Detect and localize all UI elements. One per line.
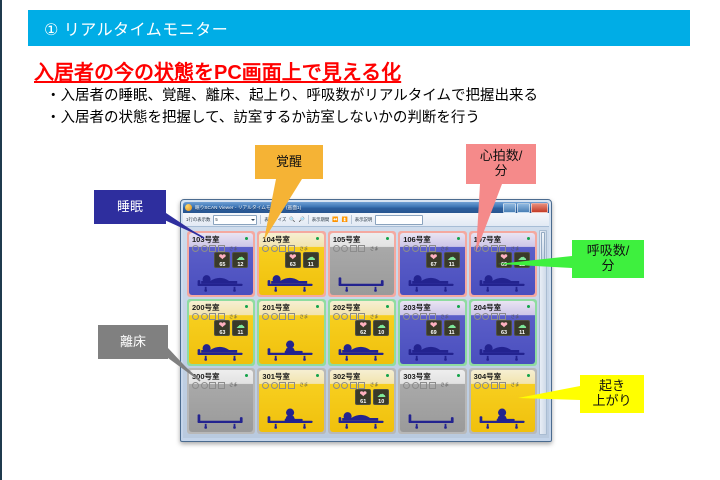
callout-sitting-up-label: 起き上がり [592, 379, 631, 409]
room-number: 203号室 [403, 303, 461, 312]
room-tile-body: ❤63☁11 [474, 320, 532, 361]
bed-posture-icon [335, 270, 389, 292]
vital-signs: ❤62☁10 [355, 320, 389, 336]
callout-awake: 覚醒 [255, 145, 323, 179]
room-number: 201号室 [262, 303, 320, 312]
bed-posture-icon [194, 407, 248, 429]
name-mask-circle [482, 382, 489, 389]
name-mask-square [288, 382, 295, 389]
callout-respiration-rate: 呼吸数/分 [572, 240, 644, 278]
honorific-suffix: さま [511, 246, 520, 252]
monitor-toolbar[interactable]: 1行の表示数 5 表示サイズ 🔍 🔎 表示期間 ⏪ ⏫ 表示説明 [183, 213, 549, 227]
name-mask-square [358, 245, 365, 252]
heart-rate-value: 63 [496, 330, 512, 336]
vital-signs: ❤63☁11 [496, 320, 530, 336]
room-tile-body [192, 389, 250, 430]
name-mask-square [429, 313, 436, 320]
room-tile-header: 201号室さま [262, 303, 320, 320]
name-mask-square [420, 382, 427, 389]
name-mask-square [218, 313, 225, 320]
chevron-down-icon [251, 219, 255, 221]
room-tile-body [333, 252, 391, 293]
respiration-rate-badge: ☁10 [373, 320, 389, 336]
vital-signs: ❤67☁11 [426, 252, 460, 268]
name-mask-square [350, 313, 357, 320]
display-size-label: 表示サイズ [264, 217, 286, 223]
room-number: 202号室 [333, 303, 391, 312]
room-number: 104号室 [262, 235, 320, 244]
online-status-indicator [457, 237, 460, 240]
room-tile-header: 103号室さま [192, 235, 250, 252]
honorific-suffix: さま [299, 246, 308, 252]
rows-per-line-select[interactable]: 5 [213, 215, 257, 225]
callout-awake-label: 覚醒 [276, 155, 302, 170]
lungs-icon: ☁ [373, 321, 389, 330]
resident-name-placeholder: さま [262, 245, 320, 252]
callout-sitting-up: 起き上がり [580, 375, 644, 413]
online-status-indicator [386, 374, 389, 377]
bed-posture-icon [194, 270, 248, 292]
bullet-item: ・入居者の睡眠、覚醒、離床、起上り、呼吸数がリアルタイムで把握出来る [46, 86, 538, 108]
respiration-rate-badge: ☁11 [444, 252, 460, 268]
step-back-icon[interactable]: ⏪ [332, 217, 338, 223]
respiration-rate-badge: ☁10 [373, 389, 389, 405]
section-banner: ① リアルタイムモニター [28, 10, 690, 46]
step-forward-icon[interactable]: ⏫ [342, 217, 348, 223]
name-mask-circle [474, 313, 481, 320]
lungs-icon: ☁ [444, 253, 460, 262]
resident-name-placeholder: さま [333, 245, 391, 252]
room-tile-header: 202号室さま [333, 303, 391, 320]
respiration-rate-value: 11 [444, 262, 460, 268]
rows-per-line-label: 1行の表示数 [186, 217, 210, 223]
respiration-rate-badge: ☁11 [303, 252, 319, 268]
room-tile-inner: 300号室さま [189, 370, 253, 432]
heart-rate-badge: ❤63 [285, 252, 301, 268]
legend-field[interactable] [375, 215, 423, 225]
bed-posture-icon [335, 407, 389, 429]
room-tile-body: ❤63☁11 [262, 252, 320, 293]
legend-label: 表示説明 [355, 217, 373, 223]
heart-rate-value: 63 [285, 262, 301, 268]
respiration-rate-badge: ☁11 [232, 320, 248, 336]
vital-signs: ❤63☁11 [214, 320, 248, 336]
name-mask-circle [333, 245, 340, 252]
room-number: 105号室 [333, 235, 391, 244]
name-mask-circle [201, 313, 208, 320]
name-mask-circle [474, 382, 481, 389]
room-tile-body [262, 389, 320, 430]
room-tile[interactable]: 303号室さま [398, 368, 466, 434]
respiration-rate-badge: ☁11 [444, 320, 460, 336]
name-mask-circle [412, 313, 419, 320]
lungs-icon: ☁ [514, 253, 530, 262]
tile-row: 300号室さま301号室さま302号室さま❤61☁10303号室さま304号室さ… [186, 367, 546, 435]
honorific-suffix: さま [229, 382, 238, 388]
name-mask-circle [271, 382, 278, 389]
room-tile-header: 302号室さま [333, 372, 391, 389]
room-tile-body: ❤67☁11 [403, 252, 461, 293]
lungs-icon: ☁ [444, 321, 460, 330]
name-mask-square [499, 313, 506, 320]
resident-name-placeholder: さま [403, 313, 461, 320]
callout-heart-rate-label: 心拍数/分 [480, 149, 523, 179]
resident-name-placeholder: さま [474, 382, 532, 389]
online-status-indicator [457, 374, 460, 377]
room-tile-inner: 202号室さま❤62☁10 [330, 301, 394, 363]
bed-posture-icon [476, 339, 530, 361]
respiration-rate-value: 10 [373, 399, 389, 405]
bed-posture-icon [264, 407, 318, 429]
bed-posture-icon [335, 339, 389, 361]
honorific-suffix: さま [370, 382, 379, 388]
room-tile-inner: 106号室さま❤67☁11 [400, 233, 464, 295]
name-mask-square [209, 245, 216, 252]
room-tile-inner: 303号室さま [400, 370, 464, 432]
respiration-rate-badge: ☁12 [232, 252, 248, 268]
room-tile-body: ❤69☁12 [474, 252, 532, 293]
heart-rate-value: 61 [355, 399, 371, 405]
room-tile-header: 200号室さま [192, 303, 250, 320]
rows-per-line-value: 5 [215, 217, 217, 222]
respiration-rate-value: 12 [514, 262, 530, 268]
room-tile-inner: 304号室さま [471, 370, 535, 432]
toolbar-divider [351, 215, 352, 224]
name-mask-circle [271, 313, 278, 320]
respiration-rate-badge: ☁12 [514, 252, 530, 268]
room-tile-header: 105号室さま [333, 235, 391, 252]
room-number: 200号室 [192, 303, 250, 312]
room-tile-body [262, 320, 320, 361]
name-mask-square [491, 382, 498, 389]
name-mask-square [209, 313, 216, 320]
heart-rate-value: 62 [355, 330, 371, 336]
room-tile-header: 104号室さま [262, 235, 320, 252]
honorific-suffix: さま [299, 314, 308, 320]
room-number: 107号室 [474, 235, 532, 244]
name-mask-circle [201, 245, 208, 252]
name-mask-square [279, 313, 286, 320]
room-tile-inner: 201号室さま [259, 301, 323, 363]
room-number: 300号室 [192, 372, 250, 381]
respiration-rate-value: 12 [232, 262, 248, 268]
name-mask-square [429, 382, 436, 389]
name-mask-circle [412, 382, 419, 389]
heart-rate-value: 69 [496, 262, 512, 268]
heart-rate-value: 63 [214, 330, 230, 336]
bed-posture-icon [264, 270, 318, 292]
honorific-suffix: さま [440, 314, 449, 320]
heart-rate-badge: ❤67 [426, 252, 442, 268]
respiration-rate-value: 11 [232, 330, 248, 336]
name-mask-square [288, 245, 295, 252]
room-tile-inner: 200号室さま❤63☁11 [189, 301, 253, 363]
callout-respiration-rate-label: 呼吸数/分 [587, 244, 630, 274]
name-mask-square [491, 245, 498, 252]
room-tile-body: ❤62☁10 [333, 320, 391, 361]
name-mask-square [350, 382, 357, 389]
vital-signs: ❤61☁10 [355, 389, 389, 405]
room-tile[interactable]: 202号室さま❤62☁10 [328, 299, 396, 365]
room-tile[interactable]: 304号室さま [469, 368, 537, 434]
room-tile-body [403, 389, 461, 430]
room-tile[interactable]: 203号室さま❤69☁11 [398, 299, 466, 365]
grid-scrollbar[interactable] [539, 230, 547, 435]
bed-posture-icon [264, 339, 318, 361]
name-mask-circle [192, 313, 199, 320]
minimize-button[interactable] [503, 203, 516, 213]
honorific-suffix: さま [370, 246, 379, 252]
name-mask-square [499, 245, 506, 252]
name-mask-circle [201, 382, 208, 389]
room-tile-header: 303号室さま [403, 372, 461, 389]
resident-name-placeholder: さま [192, 382, 250, 389]
name-mask-square [218, 382, 225, 389]
room-tile-body: ❤63☁11 [192, 320, 250, 361]
resident-name-placeholder: さま [333, 382, 391, 389]
heart-rate-badge: ❤65 [214, 252, 230, 268]
scrollbar-thumb[interactable] [541, 232, 545, 262]
name-mask-circle [262, 245, 269, 252]
app-icon [185, 204, 192, 211]
toolbar-divider [260, 215, 261, 224]
online-status-indicator [527, 374, 530, 377]
room-tile[interactable]: 104号室さま❤63☁11 [257, 231, 325, 297]
room-tile[interactable]: 200号室さま❤63☁11 [187, 299, 255, 365]
heart-rate-badge: ❤62 [355, 320, 371, 336]
room-tile-header: 106号室さま [403, 235, 461, 252]
name-mask-circle [262, 313, 269, 320]
room-tile-inner: 104号室さま❤63☁11 [259, 233, 323, 295]
room-tile-header: 301号室さま [262, 372, 320, 389]
room-tile-body: ❤69☁11 [403, 320, 461, 361]
vital-signs: ❤65☁12 [214, 252, 248, 268]
tile-row: 200号室さま❤63☁11201号室さま202号室さま❤62☁10203号室さま… [186, 298, 546, 366]
bed-posture-icon [476, 270, 530, 292]
heart-rate-badge: ❤61 [355, 389, 371, 405]
name-mask-circle [333, 313, 340, 320]
name-mask-circle [482, 245, 489, 252]
zoom-out-icon[interactable]: 🔎 [298, 217, 304, 223]
respiration-rate-value: 10 [373, 330, 389, 336]
lungs-icon: ☁ [373, 390, 389, 399]
vital-signs: ❤69☁12 [496, 252, 530, 268]
room-tile-header: 204号室さま [474, 303, 532, 320]
honorific-suffix: さま [511, 382, 520, 388]
heart-icon: ❤ [496, 321, 512, 330]
name-mask-circle [403, 245, 410, 252]
honorific-suffix: さま [370, 314, 379, 320]
heart-icon: ❤ [426, 253, 442, 262]
room-tile-inner: 203号室さま❤69☁11 [400, 301, 464, 363]
honorific-suffix: さま [229, 314, 238, 320]
tile-row: 103号室さま❤65☁12104号室さま❤63☁11105号室さま106号室さま… [186, 230, 546, 298]
callout-heart-rate: 心拍数/分 [466, 144, 536, 184]
room-tile-header: 203号室さま [403, 303, 461, 320]
name-mask-square [288, 313, 295, 320]
room-tile-body: ❤61☁10 [333, 389, 391, 430]
name-mask-square [420, 313, 427, 320]
lungs-icon: ☁ [514, 321, 530, 330]
window-title: 眠りSCAN Viewer - リアルタイムモニター (画面1) [195, 205, 301, 211]
window-titlebar[interactable]: 眠りSCAN Viewer - リアルタイムモニター (画面1) [183, 202, 549, 213]
name-mask-square [358, 313, 365, 320]
vital-signs: ❤69☁11 [426, 320, 460, 336]
room-tile[interactable]: 301号室さま [257, 368, 325, 434]
room-tile[interactable]: 300号室さま [187, 368, 255, 434]
online-status-indicator [316, 374, 319, 377]
honorific-suffix: さま [229, 246, 238, 252]
heart-rate-value: 69 [426, 330, 442, 336]
room-tile-inner: 301号室さま [259, 370, 323, 432]
resident-name-placeholder: さま [262, 382, 320, 389]
room-tile-header: 300号室さま [192, 372, 250, 389]
resident-name-placeholder: さま [474, 245, 532, 252]
name-mask-circle [341, 245, 348, 252]
lungs-icon: ☁ [232, 253, 248, 262]
name-mask-circle [192, 245, 199, 252]
bed-posture-icon [476, 407, 530, 429]
resident-name-placeholder: さま [403, 245, 461, 252]
resident-name-placeholder: さま [192, 245, 250, 252]
lungs-icon: ☁ [232, 321, 248, 330]
heart-rate-value: 67 [426, 262, 442, 268]
heart-icon: ❤ [214, 321, 230, 330]
room-tile[interactable]: 107号室さま❤69☁12 [469, 231, 537, 297]
name-mask-square [279, 382, 286, 389]
room-tile-header: 304号室さま [474, 372, 532, 389]
callout-out-of-bed-label: 離床 [120, 335, 146, 350]
callout-out-of-bed: 離床 [98, 325, 168, 359]
room-tile-inner: 107号室さま❤69☁12 [471, 233, 535, 295]
resident-name-placeholder: さま [333, 313, 391, 320]
bullet-item: ・入居者の状態を把握して、訪室するか訪室しないかの判断を行う [46, 108, 538, 130]
heart-icon: ❤ [214, 253, 230, 262]
name-mask-circle [192, 382, 199, 389]
callout-sleep: 睡眠 [94, 190, 166, 224]
name-mask-circle [412, 245, 419, 252]
respiration-rate-value: 11 [303, 262, 319, 268]
room-tile[interactable]: 106号室さま❤67☁11 [398, 231, 466, 297]
vital-signs: ❤63☁11 [285, 252, 319, 268]
lungs-icon: ☁ [303, 253, 319, 262]
name-mask-square [218, 245, 225, 252]
respiration-rate-value: 11 [444, 330, 460, 336]
name-mask-circle [403, 313, 410, 320]
room-tile[interactable]: 302号室さま❤61☁10 [328, 368, 396, 434]
name-mask-circle [482, 313, 489, 320]
name-mask-circle [271, 245, 278, 252]
room-number: 106号室 [403, 235, 461, 244]
room-tile-inner: 105号室さま [330, 233, 394, 295]
respiration-rate-badge: ☁11 [514, 320, 530, 336]
bed-posture-icon [405, 407, 459, 429]
toolbar-divider [308, 215, 309, 224]
resident-name-placeholder: さま [262, 313, 320, 320]
name-mask-circle [333, 382, 340, 389]
resident-name-placeholder: さま [403, 382, 461, 389]
name-mask-square [350, 245, 357, 252]
heart-icon: ❤ [496, 253, 512, 262]
name-mask-square [209, 382, 216, 389]
room-tile-body [474, 389, 532, 430]
online-status-indicator [316, 237, 319, 240]
room-tile[interactable]: 105号室さま [328, 231, 396, 297]
heart-rate-value: 65 [214, 262, 230, 268]
name-mask-square [358, 382, 365, 389]
name-mask-circle [262, 382, 269, 389]
name-mask-square [429, 245, 436, 252]
realtime-monitor-window[interactable]: 眠りSCAN Viewer - リアルタイムモニター (画面1) 1行の表示数 … [180, 199, 552, 442]
honorific-suffix: さま [440, 246, 449, 252]
resident-name-placeholder: さま [192, 313, 250, 320]
heart-rate-badge: ❤69 [426, 320, 442, 336]
respiration-rate-value: 11 [514, 330, 530, 336]
heart-icon: ❤ [355, 321, 371, 330]
room-tile-grid: 103号室さま❤65☁12104号室さま❤63☁11105号室さま106号室さま… [183, 227, 549, 438]
room-number: 301号室 [262, 372, 320, 381]
room-number: 103号室 [192, 235, 250, 244]
maximize-button[interactable] [517, 203, 530, 213]
display-period-label: 表示期間 [312, 217, 330, 223]
heart-icon: ❤ [355, 390, 371, 399]
room-tile[interactable]: 201号室さま [257, 299, 325, 365]
room-number: 303号室 [403, 372, 461, 381]
name-mask-square [420, 245, 427, 252]
heart-icon: ❤ [285, 253, 301, 262]
room-tile-body: ❤65☁12 [192, 252, 250, 293]
honorific-suffix: さま [299, 382, 308, 388]
bed-posture-icon [405, 270, 459, 292]
name-mask-circle [403, 382, 410, 389]
page-title: 入居者の今の状態をPC画面上で見える化 [34, 56, 401, 85]
name-mask-square [499, 382, 506, 389]
bullet-list: ・入居者の睡眠、覚醒、離床、起上り、呼吸数がリアルタイムで把握出来る ・入居者の… [46, 86, 538, 130]
room-number: 304号室 [474, 372, 532, 381]
close-button[interactable] [531, 203, 548, 213]
name-mask-circle [474, 245, 481, 252]
name-mask-circle [341, 382, 348, 389]
zoom-in-icon[interactable]: 🔍 [289, 217, 295, 223]
name-mask-circle [341, 313, 348, 320]
room-tile[interactable]: 204号室さま❤63☁11 [469, 299, 537, 365]
heart-rate-badge: ❤63 [214, 320, 230, 336]
room-tile-inner: 204号室さま❤63☁11 [471, 301, 535, 363]
window-controls[interactable] [503, 203, 548, 213]
room-number: 302号室 [333, 372, 391, 381]
room-tile-inner: 302号室さま❤61☁10 [330, 370, 394, 432]
heart-rate-badge: ❤63 [496, 320, 512, 336]
heart-icon: ❤ [426, 321, 442, 330]
heart-rate-badge: ❤69 [496, 252, 512, 268]
room-tile-inner: 103号室さま❤65☁12 [189, 233, 253, 295]
room-number: 204号室 [474, 303, 532, 312]
room-tile[interactable]: 103号室さま❤65☁12 [187, 231, 255, 297]
banner-title: ① リアルタイムモニター [44, 16, 228, 40]
bed-posture-icon [194, 339, 248, 361]
room-tile-header: 107号室さま [474, 235, 532, 252]
bed-posture-icon [405, 339, 459, 361]
resident-name-placeholder: さま [474, 313, 532, 320]
callout-sleep-label: 睡眠 [117, 200, 143, 215]
honorific-suffix: さま [511, 314, 520, 320]
name-mask-square [279, 245, 286, 252]
honorific-suffix: さま [440, 382, 449, 388]
name-mask-square [491, 313, 498, 320]
